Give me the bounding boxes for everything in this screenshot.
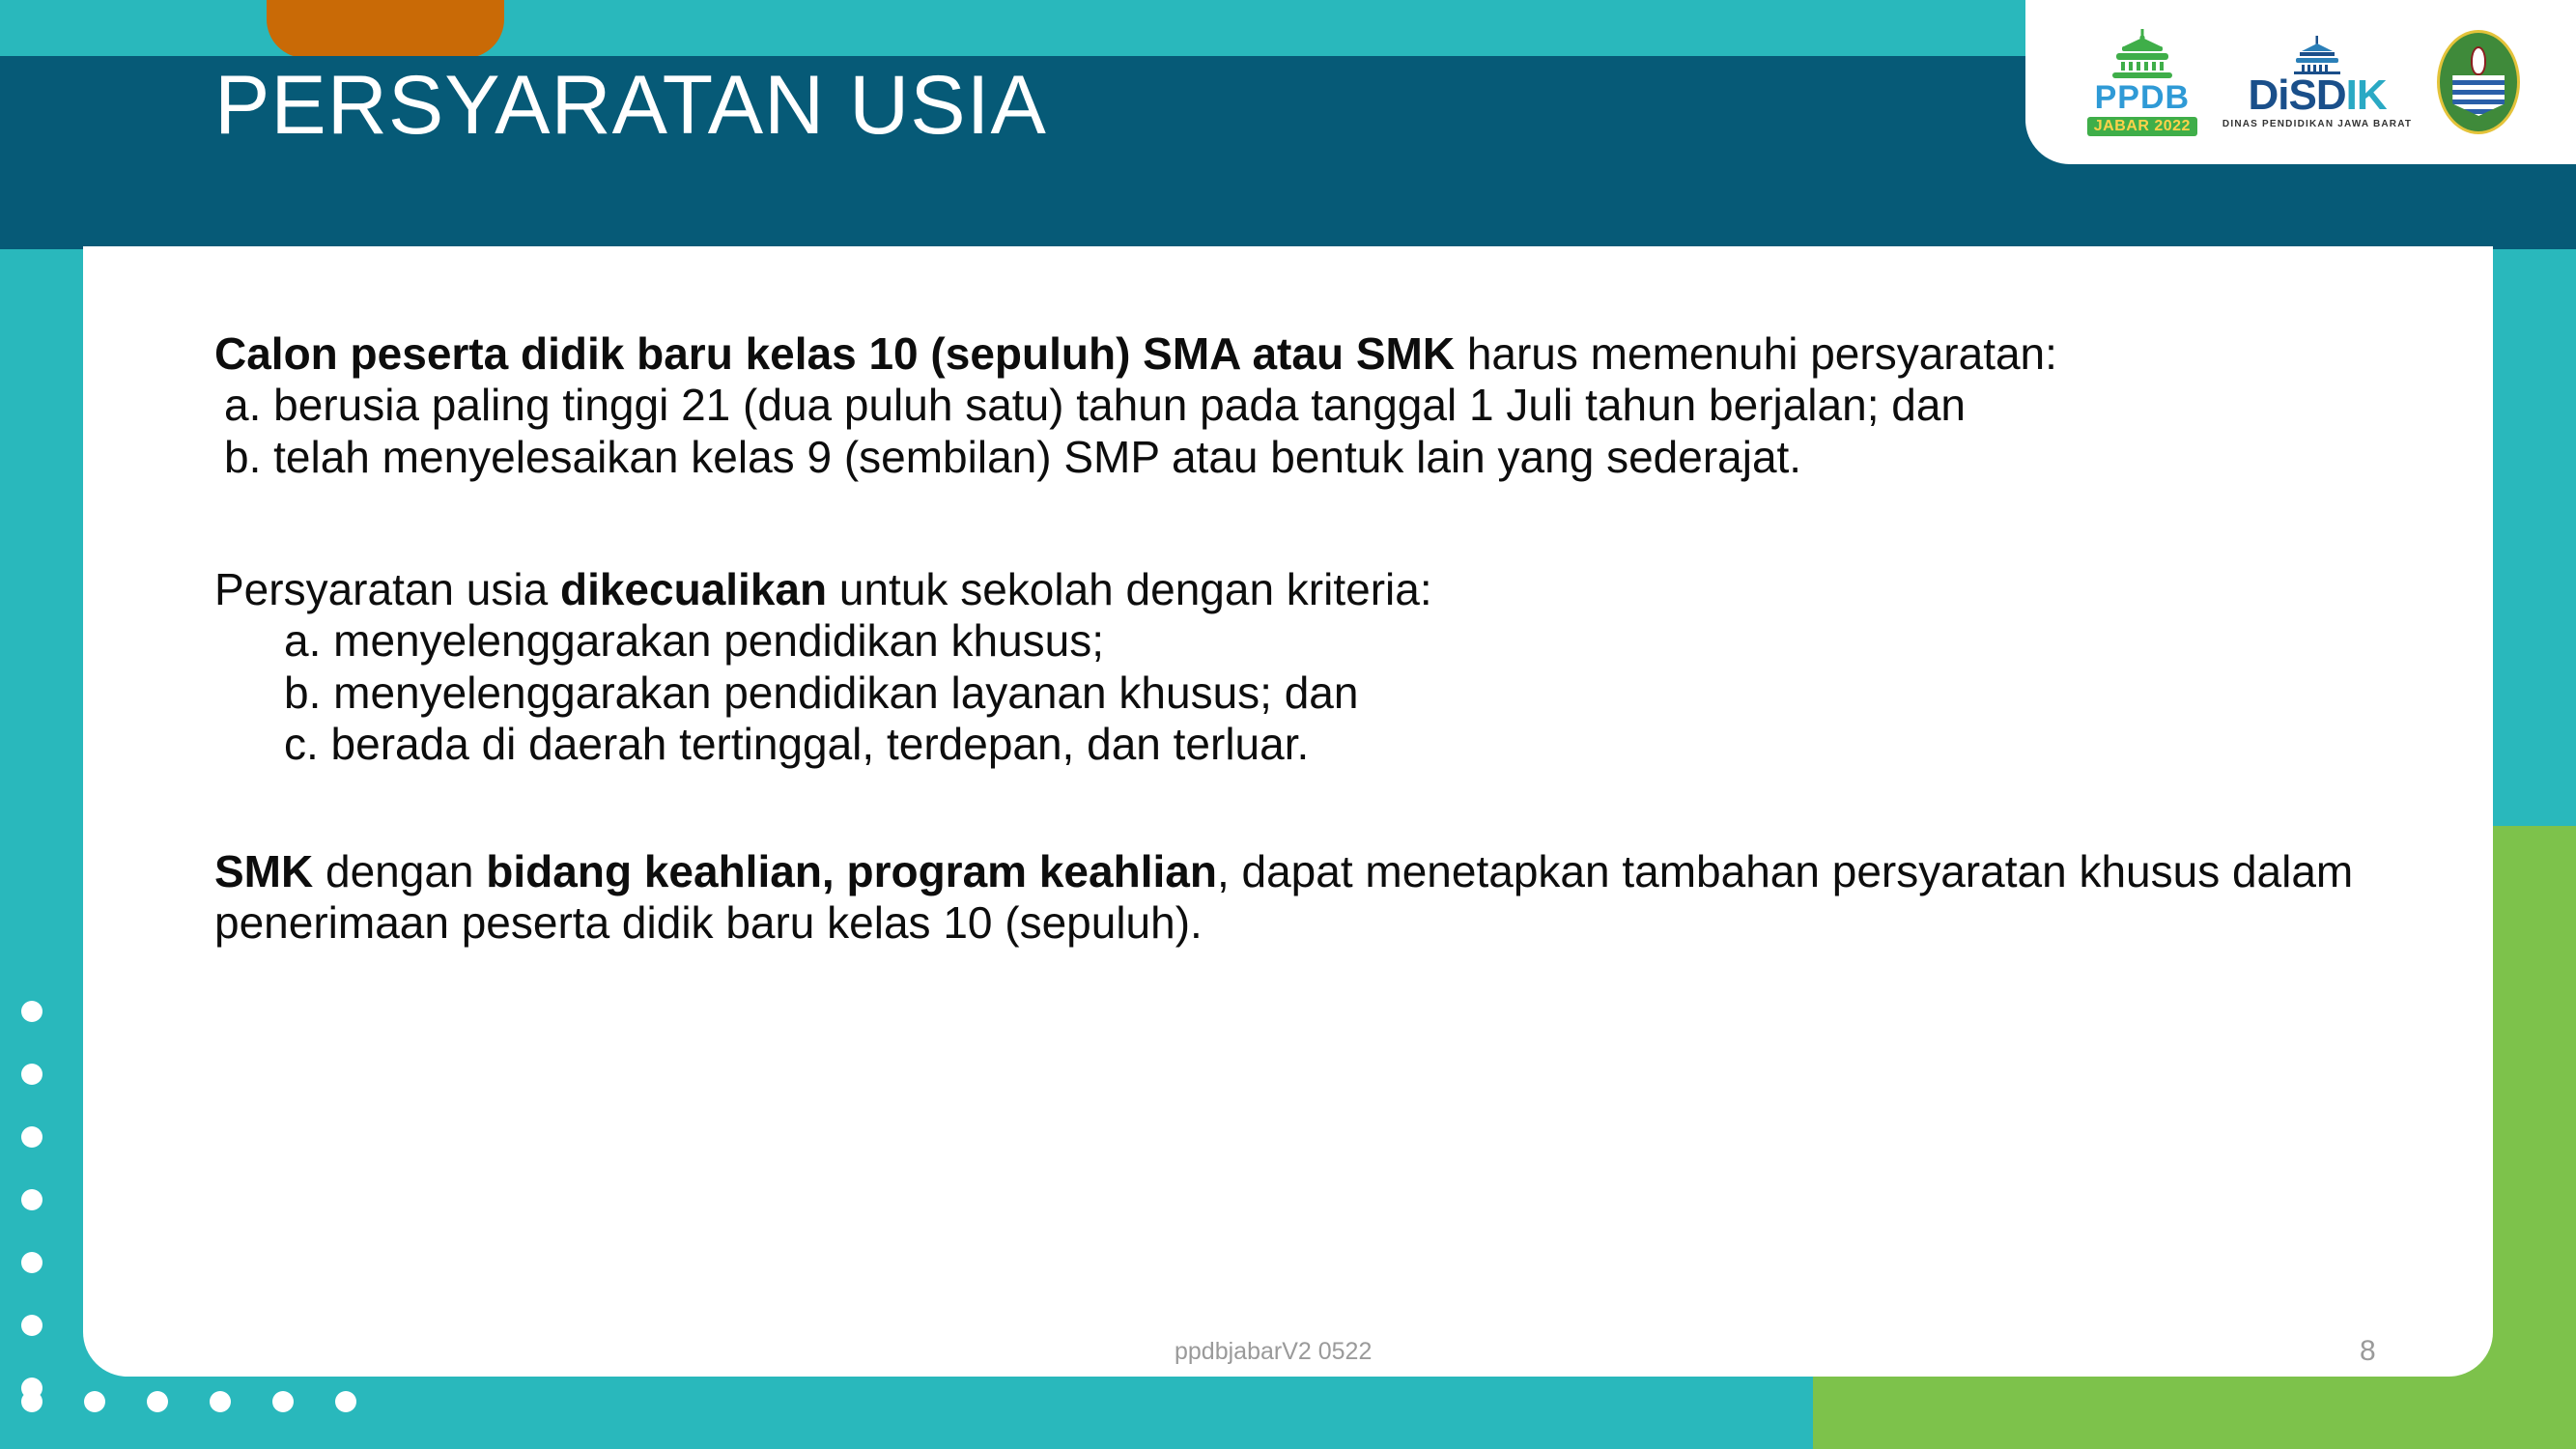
decorative-dot bbox=[21, 1391, 42, 1412]
block1-intro: Calon peserta didik baru kelas 10 (sepul… bbox=[214, 328, 2454, 380]
spacer-1 bbox=[214, 483, 2454, 564]
orange-accent-tab bbox=[267, 0, 504, 58]
page-number: 8 bbox=[2360, 1335, 2376, 1368]
block2-intro-post: untuk sekolah dengan kriteria: bbox=[827, 564, 1432, 614]
decorative-dot bbox=[272, 1391, 294, 1412]
slide-body: Calon peserta didik baru kelas 10 (sepul… bbox=[214, 328, 2454, 949]
block1-intro-rest: harus memenuhi persyaratan: bbox=[1455, 328, 2057, 379]
block2-item-b: b. menyelenggarakan pendidikan layanan k… bbox=[214, 668, 2454, 719]
disdik-logo-subtitle: DINAS PENDIDIKAN JAWA BARAT bbox=[2222, 120, 2412, 129]
disdik-building-icon bbox=[2286, 36, 2348, 74]
ppdb-logo-subtitle: JABAR 2022 bbox=[2087, 117, 2197, 136]
disdik-logo: DiSDIK DINAS PENDIDIKAN JAWA BARAT bbox=[2222, 36, 2412, 129]
block3-paragraph: SMK dengan bidang keahlian, program keah… bbox=[214, 846, 2454, 950]
logo-panel: PPDB JABAR 2022 DiSDIK DINAS PENDIDIKAN … bbox=[2025, 0, 2576, 164]
emblem-flame-icon bbox=[2471, 46, 2486, 75]
content-card: Calon peserta didik baru kelas 10 (sepul… bbox=[83, 246, 2493, 1377]
decorative-dot bbox=[21, 1126, 42, 1148]
decorative-dot bbox=[147, 1391, 168, 1412]
page-title: PERSYARATAN USIA bbox=[214, 64, 1047, 147]
block2-intro-pre: Persyaratan usia bbox=[214, 564, 560, 614]
jawa-barat-emblem bbox=[2437, 30, 2520, 134]
decorative-dot bbox=[84, 1391, 105, 1412]
block3-bold-smk: SMK bbox=[214, 846, 313, 896]
block2-intro-bold: dikecualikan bbox=[560, 564, 827, 614]
decorative-dot bbox=[21, 1252, 42, 1273]
decorative-dot bbox=[21, 1189, 42, 1210]
ppdb-logo-word: PPDB bbox=[2095, 81, 2190, 114]
decorative-dot bbox=[210, 1391, 231, 1412]
ppdb-jabar-logo: PPDB JABAR 2022 bbox=[2087, 29, 2197, 136]
decorative-dot bbox=[21, 1064, 42, 1085]
block2-item-c: c. berada di daerah tertinggal, terdepan… bbox=[214, 719, 2454, 770]
block1-item-a: a. berusia paling tinggi 21 (dua puluh s… bbox=[214, 380, 2454, 431]
disdik-logo-word: DiSDIK bbox=[2249, 74, 2387, 117]
green-footer-strip bbox=[1813, 1372, 2576, 1449]
block1-intro-bold: Calon peserta didik baru kelas 10 (sepul… bbox=[214, 328, 1455, 379]
decorative-dot bbox=[21, 1315, 42, 1336]
ppdb-building-icon bbox=[2101, 29, 2184, 79]
emblem-shield-icon bbox=[2437, 30, 2520, 134]
decorative-dot bbox=[21, 1001, 42, 1022]
emblem-stripes-icon bbox=[2452, 75, 2505, 116]
decorative-dot bbox=[335, 1391, 356, 1412]
block2-intro: Persyaratan usia dikecualikan untuk seko… bbox=[214, 564, 2454, 615]
version-footer: ppdbjabarV2 0522 bbox=[1175, 1338, 1372, 1366]
block3-mid: dengan bbox=[313, 846, 486, 896]
block1-item-b: b. telah menyelesaikan kelas 9 (sembilan… bbox=[214, 432, 2454, 483]
spacer-2 bbox=[214, 771, 2454, 846]
block3-bold-keahlian: bidang keahlian, program keahlian bbox=[486, 846, 1217, 896]
block2-item-a: a. menyelenggarakan pendidikan khusus; bbox=[214, 615, 2454, 667]
